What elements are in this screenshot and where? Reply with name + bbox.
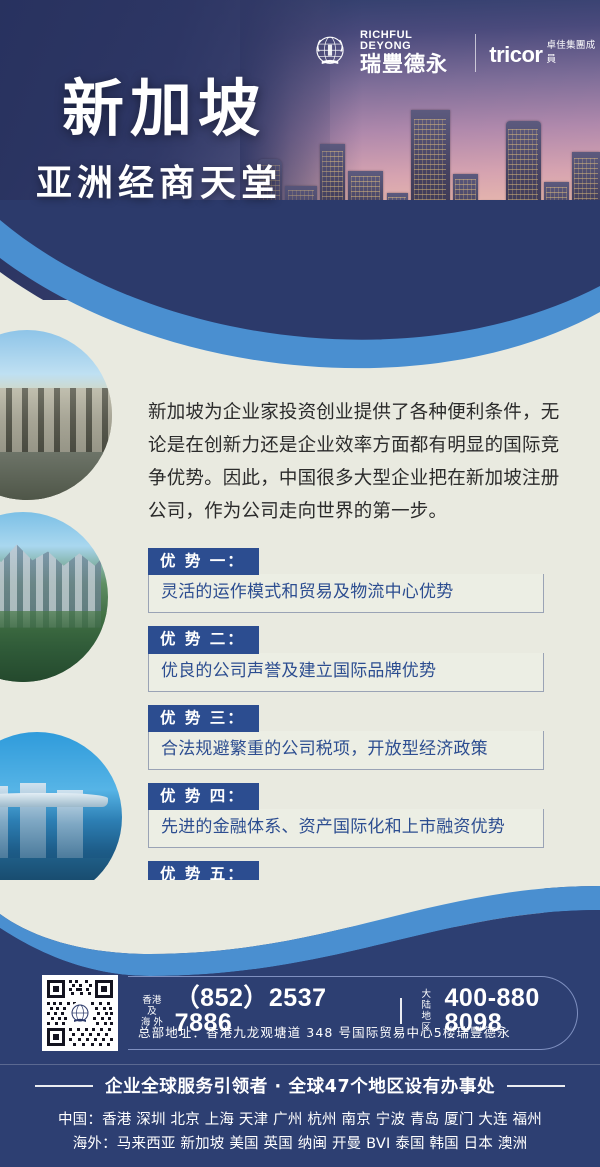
region-line-overseas: 海外：马来西亚 新加坡 美国 英国 纳闽 开曼 BVI 泰国 韩国 日本 澳洲 xyxy=(0,1132,600,1156)
brand-logo: RICHFUL DEYONG 瑞豐德永 tricor 卓佳集團成員 xyxy=(308,30,600,75)
advantage-text-4: 先进的金融体系、资产国际化和上市融资优势 xyxy=(148,809,544,848)
brand-chinese-name: 瑞豐德永 xyxy=(360,54,462,75)
advantage-item-3: 优 势 三： 合法规避繁重的公司税项，开放型经济政策 xyxy=(148,705,544,770)
poster-root: RICHFUL DEYONG 瑞豐德永 tricor 卓佳集團成員 新加坡 亚洲… xyxy=(0,0,600,1167)
page-subtitle: 亚洲经商天堂 xyxy=(36,166,282,202)
footer-slogan: 企业全球服务引领者 · 全球47个地区设有办事处 xyxy=(105,1073,495,1098)
contact-bar: 香港及 海 外 （852）2537 7886 大陆 地区 400-880 809… xyxy=(0,972,600,1054)
advantage-tab-1: 优 势 一： xyxy=(148,548,259,575)
advantage-item-1: 优 势 一： 灵活的运作模式和贸易及物流中心优势 xyxy=(148,548,544,613)
photo-marina-bay-sands xyxy=(0,732,122,902)
photo-city-greenery xyxy=(0,512,108,682)
head-office-address: 总部地址：香港九龙观塘道 348 号国际贸易中心5楼瑞豐德永 xyxy=(138,1022,511,1041)
slogan-dash-right xyxy=(507,1085,565,1087)
advantage-tab-4: 优 势 四： xyxy=(148,783,259,810)
advantage-text-3: 合法规避繁重的公司税项，开放型经济政策 xyxy=(148,731,544,770)
advantage-tab-2: 优 势 二： xyxy=(148,626,259,653)
advantage-tab-3: 优 势 三： xyxy=(148,705,259,732)
advantage-item-4: 优 势 四： 先进的金融体系、资产国际化和上市融资优势 xyxy=(148,783,544,848)
qr-code-graphic xyxy=(45,978,115,1048)
advantage-text-1: 灵活的运作模式和贸易及物流中心优势 xyxy=(148,574,544,613)
region-list: 中国：香港 深圳 北京 上海 天津 广州 杭州 南京 宁波 青岛 厦门 大连 福… xyxy=(0,1108,600,1156)
brand-english-name: RICHFUL DEYONG xyxy=(360,30,462,52)
cn-tag-line1: 大陆 xyxy=(417,989,435,1011)
intro-paragraph: 新加坡为企业家投资创业提供了各种便利条件，无论是在创新力还是企业效率方面都有明显… xyxy=(148,396,568,528)
footer-separator xyxy=(0,1064,600,1065)
advantage-text-2: 优良的公司声誉及建立国际品牌优势 xyxy=(148,653,544,692)
slogan-dash-left xyxy=(35,1085,93,1087)
slogan-row: 企业全球服务引领者 · 全球47个地区设有办事处 xyxy=(0,1073,600,1098)
hk-tag-line1: 香港及 xyxy=(138,995,166,1017)
advantage-item-2: 优 势 二： 优良的公司声誉及建立国际品牌优势 xyxy=(148,626,544,691)
region-line-china: 中国：香港 深圳 北京 上海 天津 广州 杭州 南京 宁波 青岛 厦门 大连 福… xyxy=(0,1108,600,1132)
partner-chinese-name: 卓佳集團成員 xyxy=(547,37,600,68)
qr-code-icon[interactable] xyxy=(42,975,118,1051)
photo-shophouse-street xyxy=(0,330,112,500)
page-title: 新加坡 xyxy=(62,78,266,140)
logo-divider xyxy=(475,34,476,72)
phone-divider xyxy=(400,998,402,1024)
partner-name: tricor xyxy=(489,42,542,68)
richful-deyong-crest-icon xyxy=(308,31,352,75)
